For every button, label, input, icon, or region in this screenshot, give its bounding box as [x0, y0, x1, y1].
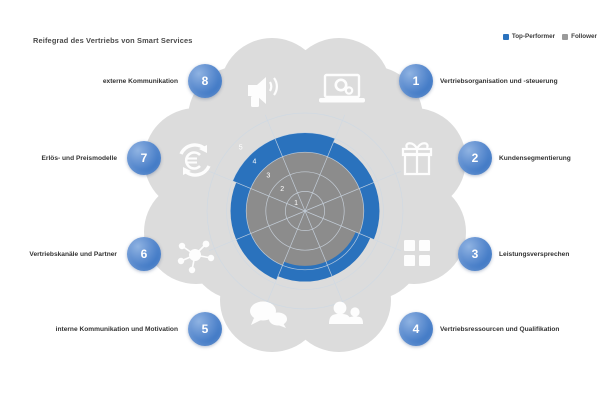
segment-label-8: externe Kommunikation [103, 78, 178, 85]
segment-badge-2[interactable]: 2 [458, 141, 492, 175]
radar-tick-label: 3 [266, 172, 270, 179]
segment-label-1: Vertriebsorganisation und -steuerung [440, 78, 558, 85]
radar-tick-label: 1 [294, 200, 298, 207]
segment-label-6: Vertriebskanäle und Partner [29, 251, 117, 258]
segment-badge-7[interactable]: 7 [127, 141, 161, 175]
segment-number-6: 6 [141, 247, 148, 261]
radar-tick-label: 5 [239, 145, 243, 152]
segment-number-2: 2 [472, 151, 479, 165]
segment-label-3: Leistungsversprechen [499, 251, 569, 258]
segment-number-5: 5 [202, 322, 209, 336]
segment-label-7: Erlös- und Preismodelle [42, 155, 117, 162]
segment-label-4: Vertriebsressourcen und Qualifikation [440, 326, 559, 333]
radar-tick-label: 4 [253, 159, 257, 166]
segment-label-5: interne Kommunikation und Motivation [56, 326, 178, 333]
infographic-canvas: Reifegrad des Vertriebs von Smart Servic… [0, 0, 607, 400]
segment-number-7: 7 [141, 151, 148, 165]
radar-tick-label: 2 [280, 186, 284, 193]
segment-badge-8[interactable]: 8 [188, 64, 222, 98]
segment-number-8: 8 [202, 74, 209, 88]
segment-badge-3[interactable]: 3 [458, 237, 492, 271]
segment-badge-6[interactable]: 6 [127, 237, 161, 271]
segment-badge-4[interactable]: 4 [399, 312, 433, 346]
segment-number-4: 4 [413, 322, 420, 336]
segment-number-3: 3 [472, 247, 479, 261]
segment-number-1: 1 [413, 74, 420, 88]
segment-badge-5[interactable]: 5 [188, 312, 222, 346]
segment-label-2: Kundensegmentierung [499, 155, 571, 162]
segment-badge-1[interactable]: 1 [399, 64, 433, 98]
radar-chart: 12345 [0, 0, 607, 400]
